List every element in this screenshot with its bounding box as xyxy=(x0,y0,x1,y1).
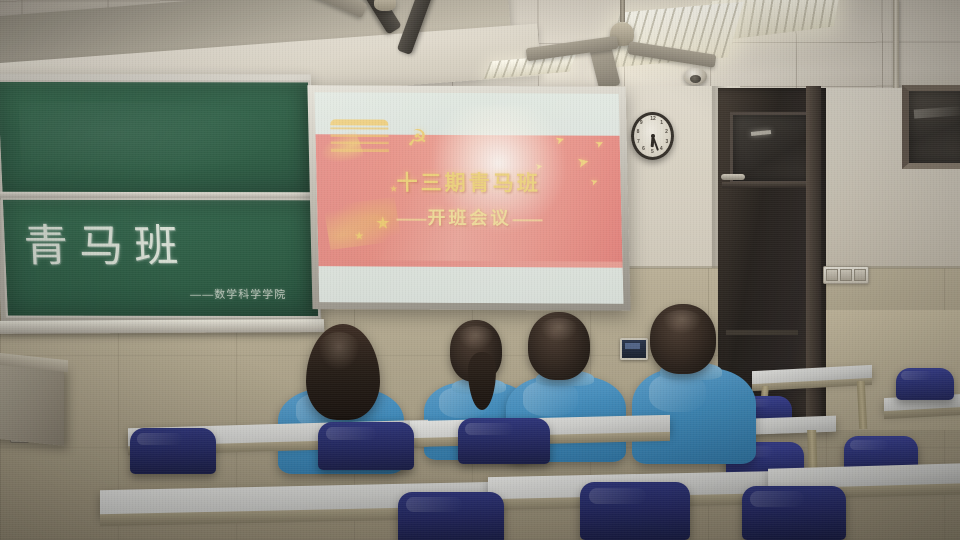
slide-title-line1: 十三期青马班 xyxy=(316,166,621,198)
chair xyxy=(580,482,690,540)
clock-numeral: 3 xyxy=(665,139,668,145)
blackboard-upper-panel xyxy=(0,80,315,196)
clock-numeral: 9 xyxy=(640,120,643,126)
light-switch[interactable] xyxy=(840,269,852,281)
wall-window xyxy=(902,85,960,169)
blackboard-attribution-text: ——数学科学学院 xyxy=(190,286,287,302)
av-control-panel[interactable] xyxy=(620,338,648,360)
projection-screen: ★ ★ ★ ☭ ➤ ➤ ➤ ➤ ➤ 十三期青马班 开班会议 xyxy=(307,85,630,311)
hair-highlight xyxy=(456,326,496,352)
light-switch[interactable] xyxy=(826,269,838,281)
chair xyxy=(896,368,954,400)
chair xyxy=(458,418,550,464)
projected-slide: ★ ★ ★ ☭ ➤ ➤ ➤ ➤ ➤ 十三期青马班 开班会议 xyxy=(315,92,624,304)
lectern xyxy=(0,358,64,446)
security-camera-icon xyxy=(684,68,707,85)
clock-numeral: 7 xyxy=(637,139,640,145)
clock-numeral: 5 xyxy=(651,149,654,155)
door-crossbar xyxy=(722,182,810,188)
classroom-photo: 12 1 2 3 4 5 6 7 8 9 青马班 ——数学科学学院 xyxy=(0,0,960,540)
clock-numeral: 1 xyxy=(660,120,663,126)
chair xyxy=(742,486,846,540)
door-crossbar-lower xyxy=(726,330,798,335)
star-icon: ★ xyxy=(354,231,364,242)
party-emblem-icon: ☭ xyxy=(407,126,434,150)
chalk-smear xyxy=(19,102,283,182)
door-handle[interactable] xyxy=(721,174,745,180)
clock-numeral: 12 xyxy=(650,116,656,122)
blackboard-title-text: 青马班 xyxy=(22,210,190,274)
clock-center-pin xyxy=(651,134,655,138)
slide-bottom-band xyxy=(319,266,624,303)
clock-numeral: 4 xyxy=(660,146,663,152)
clock-numeral: 2 xyxy=(665,129,668,135)
light-switch-panel[interactable] xyxy=(823,266,869,284)
slide-title-line2: 开班会议 xyxy=(317,203,622,231)
chair xyxy=(130,428,216,474)
chair xyxy=(398,492,504,540)
clock-numeral: 8 xyxy=(637,129,640,135)
wall-clock: 12 1 2 3 4 5 6 7 8 9 xyxy=(631,112,674,160)
hair-highlight xyxy=(538,318,580,344)
hair-highlight xyxy=(316,332,362,374)
chair xyxy=(318,422,414,470)
chalk-tray xyxy=(0,319,324,334)
hair-highlight xyxy=(660,310,704,336)
light-switch[interactable] xyxy=(854,269,866,281)
blackboard: 青马班 ——数学科学学院 xyxy=(0,74,322,326)
clock-numeral: 6 xyxy=(642,146,645,152)
